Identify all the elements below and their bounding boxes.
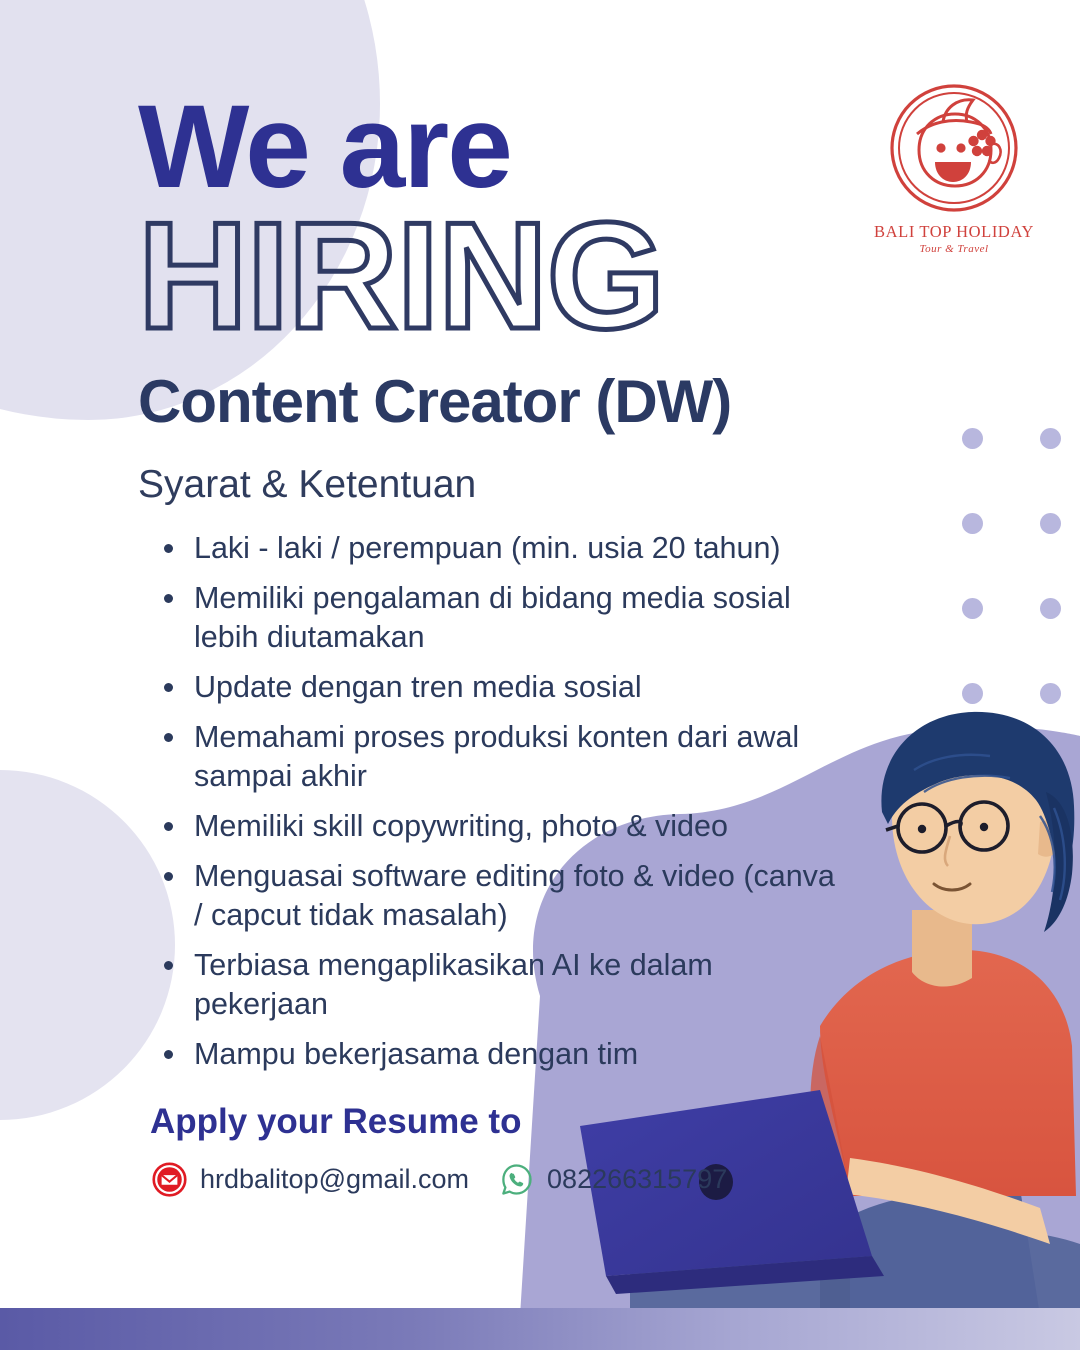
requirement-item: Mampu bekerjasama dengan tim xyxy=(160,1035,850,1074)
phone-number: 082266315797 xyxy=(547,1164,727,1195)
poster-content: We are HIRING Content Creator (DW) Syara… xyxy=(0,0,1080,1197)
requirement-item: Laki - laki / perempuan (min. usia 20 ta… xyxy=(160,529,850,568)
requirement-item: Memiliki pengalaman di bidang media sosi… xyxy=(160,579,850,657)
apply-heading: Apply your Resume to xyxy=(150,1102,1080,1142)
job-title: Content Creator (DW) xyxy=(138,370,1080,433)
gmail-envelope-icon xyxy=(152,1162,187,1197)
laptop-base xyxy=(606,1256,884,1294)
couch xyxy=(630,1229,1080,1316)
headline-line-1: We are xyxy=(138,0,1080,206)
requirements-heading: Syarat & Ketentuan xyxy=(138,463,1080,507)
hiring-poster: BALI TOP HOLIDAY Tour & Travel We are HI… xyxy=(0,0,1080,1350)
email-address: hrdbalitop@gmail.com xyxy=(200,1164,469,1195)
bottom-gradient-bar xyxy=(0,1308,1080,1350)
requirements-list: Laki - laki / perempuan (min. usia 20 ta… xyxy=(138,529,850,1074)
headline-line-2: HIRING xyxy=(138,200,1080,352)
requirement-item: Memiliki skill copywriting, photo & vide… xyxy=(160,807,850,846)
email-contact[interactable]: hrdbalitop@gmail.com xyxy=(152,1162,469,1197)
requirement-item: Menguasai software editing foto & video … xyxy=(160,857,850,935)
whatsapp-icon xyxy=(499,1162,534,1197)
requirement-item: Memahami proses produksi konten dari awa… xyxy=(160,718,850,796)
whatsapp-contact[interactable]: 082266315797 xyxy=(499,1162,727,1197)
contact-row: hrdbalitop@gmail.com 082266315797 xyxy=(152,1162,1080,1197)
requirement-item: Terbiasa mengaplikasikan AI ke dalam pek… xyxy=(160,946,850,1024)
requirement-item: Update dengan tren media sosial xyxy=(160,668,850,707)
